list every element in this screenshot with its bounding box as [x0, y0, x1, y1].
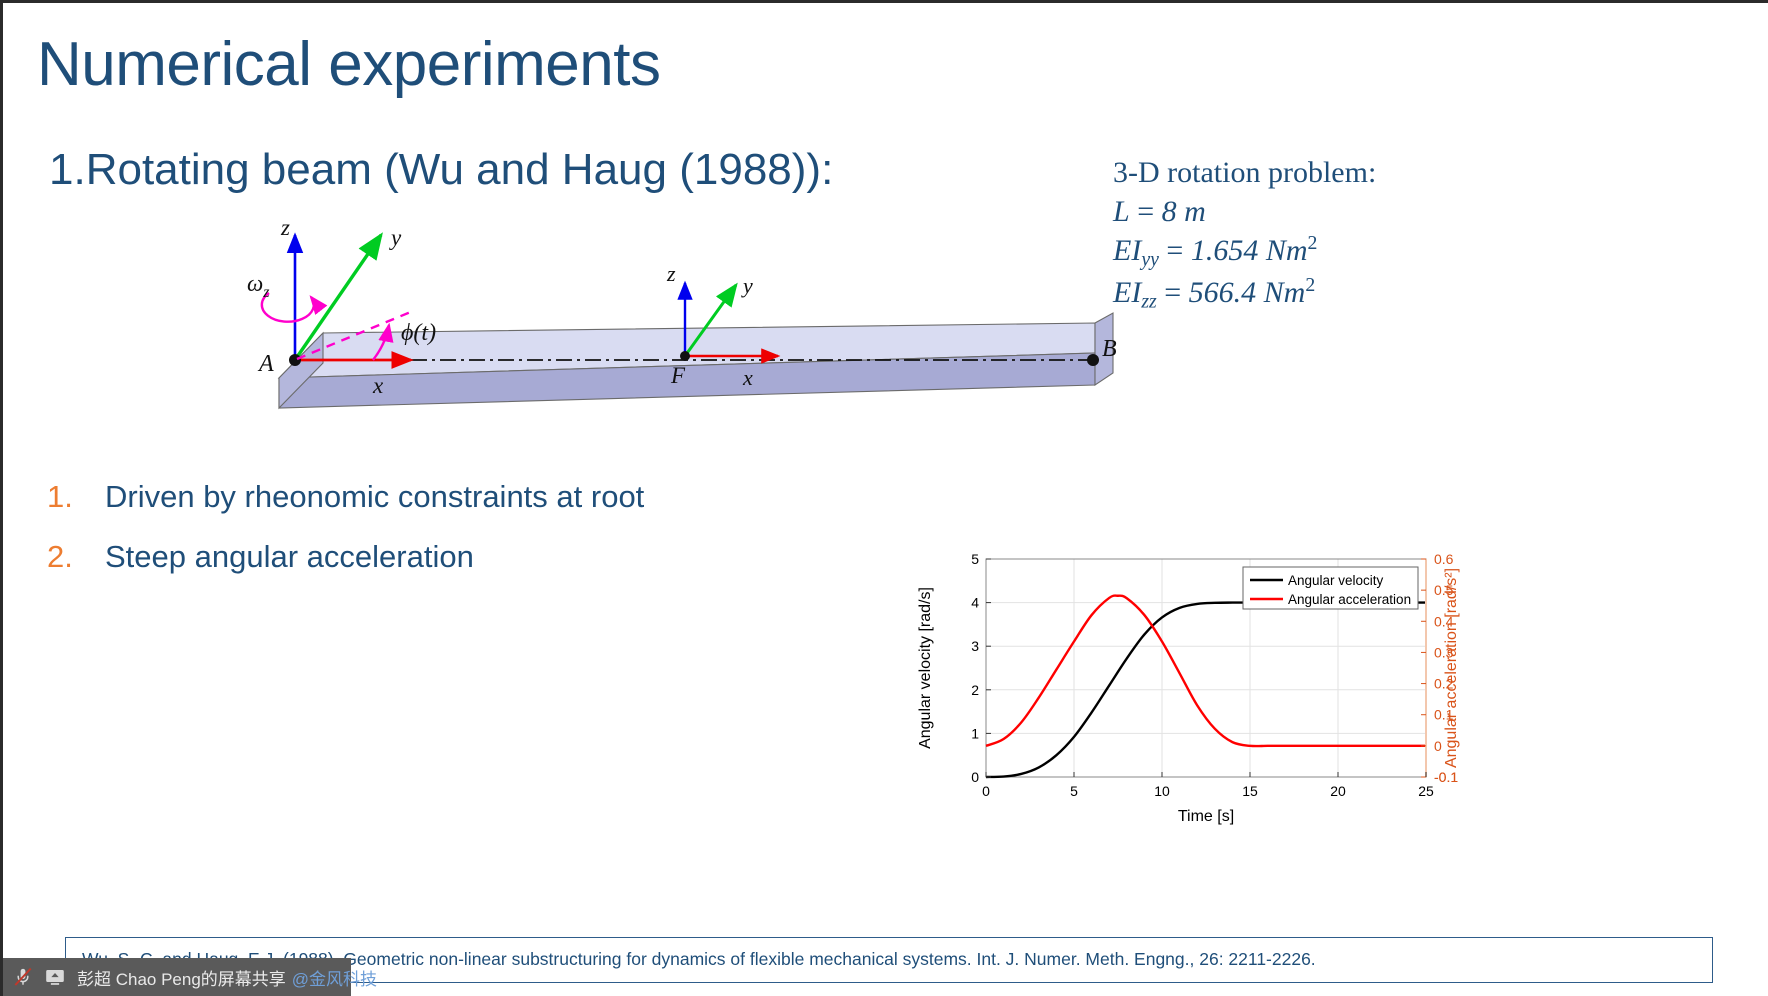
- microphone-muted-icon[interactable]: [9, 964, 37, 990]
- parameter-length-value: 8 m: [1162, 195, 1206, 228]
- equals-sign: =: [1137, 195, 1154, 228]
- axis-y-mid-label: y: [741, 273, 753, 298]
- phi-label: ϕ(t): [401, 320, 436, 346]
- point-a-marker: [289, 354, 301, 366]
- y-tick-label: 2: [971, 682, 979, 698]
- equals-sign: =: [1164, 276, 1181, 309]
- angular-motion-chart: 012345-0.100.10.20.30.40.50.6-0.10510152…: [908, 533, 1468, 833]
- bullet-list: 1. Driven by rheonomic constraints at ro…: [47, 479, 747, 599]
- axis-x-left-label: x: [372, 373, 384, 398]
- list-item: 1. Driven by rheonomic constraints at ro…: [47, 479, 747, 515]
- x-axis-label: Time [s]: [1178, 808, 1234, 825]
- y2-tick-label: 0: [1434, 738, 1442, 754]
- list-item-number: 1.: [47, 479, 105, 515]
- chart-legend: Angular velocityAngular acceleration: [1243, 567, 1418, 609]
- x-tick-label: 5: [1070, 783, 1078, 799]
- parameters-block: 3-D rotation problem: L = 8 m EIyy = 1.6…: [1113, 153, 1376, 316]
- list-item-number: 2.: [47, 539, 105, 575]
- screen-share-tag: @金风科技: [292, 965, 377, 990]
- y2-tick-label: 0.6: [1434, 551, 1454, 567]
- parameters-heading: 3-D rotation problem:: [1113, 153, 1376, 192]
- list-item-label: Steep angular acceleration: [105, 539, 474, 575]
- parameter-eizz: EIzz = 566.4 Nm2: [1113, 273, 1376, 315]
- parameter-eiyy: EIyy = 1.654 Nm2: [1113, 231, 1376, 273]
- list-item-label: Driven by rheonomic constraints at root: [105, 479, 644, 515]
- page-title: Numerical experiments: [37, 29, 661, 100]
- axis-x-mid-label: x: [742, 365, 753, 390]
- series-line-angular-acceleration: [986, 596, 1426, 747]
- parameter-length: L = 8 m: [1113, 192, 1376, 231]
- omega-label: ωz: [247, 271, 270, 301]
- x-tick-label: 0: [982, 783, 990, 799]
- screen-share-icon[interactable]: [41, 964, 69, 990]
- point-f-label: F: [670, 363, 686, 388]
- point-b-label: B: [1102, 336, 1117, 362]
- screen-share-label: 彭超 Chao Peng的屏幕共享: [77, 965, 286, 990]
- point-a-label: A: [257, 351, 274, 377]
- x-tick-label: 20: [1330, 783, 1346, 799]
- x-tick-label: 25: [1418, 783, 1434, 799]
- y2-axis-label: Angular acceleration [rad/s²]: [1443, 568, 1460, 768]
- x-tick-label: 10: [1154, 783, 1170, 799]
- point-b-marker: [1087, 354, 1099, 366]
- y2-tick-label: -0.1: [1434, 769, 1458, 785]
- parameter-eizz-exponent: 2: [1305, 274, 1315, 296]
- parameter-eizz-value: 566.4 Nm: [1189, 276, 1306, 309]
- rotating-beam-diagram: z y x A ωz ϕ(t) z y x F B: [233, 213, 1133, 443]
- y-tick-label: 5: [971, 551, 979, 567]
- omega-rotation-arc: [262, 293, 314, 322]
- y-tick-label: 3: [971, 638, 979, 654]
- equals-sign: =: [1166, 234, 1183, 267]
- screen-share-bar: 彭超 Chao Peng的屏幕共享 @金风科技: [3, 958, 351, 996]
- legend-label: Angular acceleration: [1288, 592, 1411, 607]
- y-axis-label: Angular velocity [rad/s]: [917, 587, 934, 749]
- axis-z-mid-label: z: [666, 261, 676, 286]
- section-heading: 1.Rotating beam (Wu and Haug (1988)):: [49, 145, 833, 195]
- y-tick-label: 0: [971, 769, 979, 785]
- parameter-eiyy-value: 1.654 Nm: [1191, 234, 1308, 267]
- y-tick-label: 4: [971, 595, 979, 611]
- list-item: 2. Steep angular acceleration: [47, 539, 747, 575]
- legend-label: Angular velocity: [1288, 573, 1384, 588]
- parameter-eizz-subscript: zz: [1141, 291, 1156, 313]
- axis-y-left-label: y: [389, 225, 402, 250]
- parameter-eiyy-subscript: yy: [1141, 249, 1159, 271]
- point-f-marker: [680, 351, 690, 361]
- presentation-slide: Numerical experiments 1.Rotating beam (W…: [0, 0, 1768, 996]
- parameter-eiyy-exponent: 2: [1308, 232, 1318, 254]
- x-tick-label: 15: [1242, 783, 1258, 799]
- axis-z-left-label: z: [280, 215, 290, 240]
- y-tick-label: 1: [971, 725, 979, 741]
